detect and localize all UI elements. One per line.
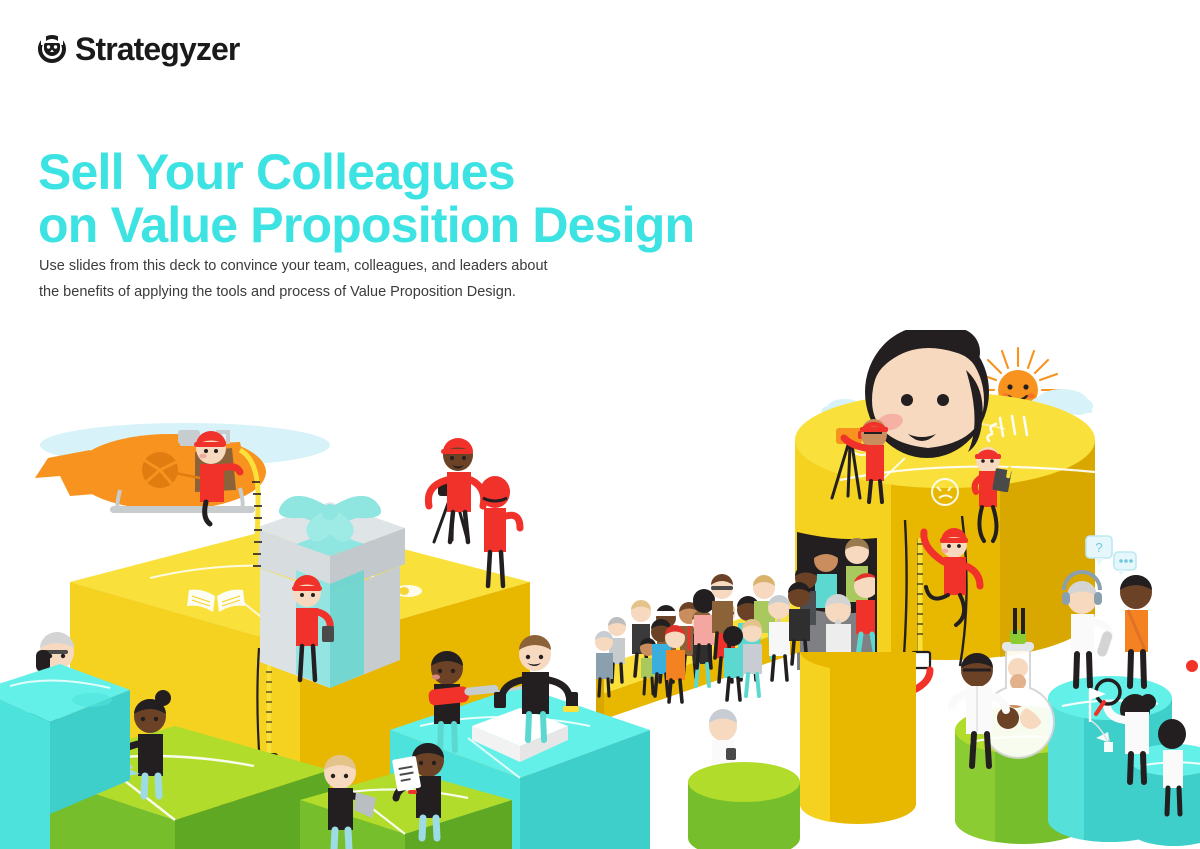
strategyzer-owl-mark-icon [36,33,68,65]
page-title-line-2: on Value Proposition Design [38,199,898,252]
red-dot-marker [1186,660,1198,672]
interviewee [1120,575,1152,686]
hero-illustration: ? [0,330,1200,849]
page-title: Sell Your Colleagues on Value Propositio… [38,146,898,252]
person [742,619,762,696]
yellow-cylinder-base [800,652,916,824]
illustration-canvas: ? [0,330,1200,849]
page-subtitle: Use slides from this deck to convince yo… [39,253,679,307]
gift-box [255,496,405,688]
person [723,626,743,700]
pole-worker [480,476,528,586]
brand-logo[interactable]: Strategyzer [36,33,239,65]
poster-page: Strategyzer Sell Your Colleagues on Valu… [0,0,1200,849]
svg-text:?: ? [1095,540,1102,555]
photographer-yellow [428,438,483,542]
page-title-line-1: Sell Your Colleagues [38,144,515,200]
brand-name: Strategyzer [75,33,239,65]
page-subtitle-line-2: the benefits of applying the tools and p… [39,279,679,306]
green-cylinder-under-bridge [688,762,800,849]
person [768,595,790,680]
page-subtitle-line-1: Use slides from this deck to convince yo… [39,258,548,274]
